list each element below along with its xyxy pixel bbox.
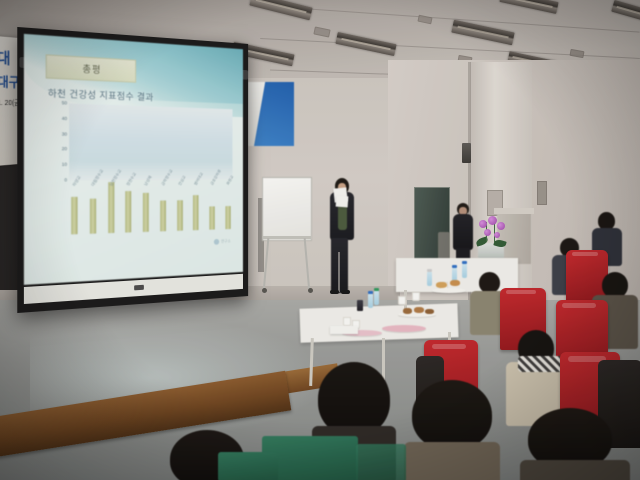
chart-bar — [126, 192, 132, 233]
orchid-bloom — [497, 222, 505, 230]
audience-member-foreground — [520, 408, 630, 480]
presenter-leg-gap — [338, 252, 340, 292]
attendee-coat — [453, 214, 473, 250]
orchid-bloom — [484, 229, 491, 236]
beverage-can[interactable] — [357, 300, 363, 311]
orchid-bloom — [488, 216, 497, 225]
chart-bar — [160, 201, 166, 232]
chart-bar — [71, 196, 77, 234]
presentation-slide: 총평 하천 건강성 지표점수 결과 01020304050 하양교대림정수교남천… — [24, 34, 243, 285]
flip-chart-whiteboard — [262, 177, 312, 241]
snack-item — [436, 282, 447, 288]
slide-logo: 연구소 — [214, 238, 231, 244]
slide-badge-label: 총평 — [82, 62, 101, 76]
chart-y-tick: 10 — [41, 162, 67, 167]
chart-x-tick-label: 안심교 — [177, 179, 185, 187]
whiteboard-wheel — [308, 288, 313, 293]
seat-highlight — [562, 303, 596, 308]
slide-section-badge: 총평 — [46, 54, 136, 83]
whiteboard-wheel — [262, 288, 267, 293]
bar-chart: 01020304050 하양교대림정수교남천정수교정천수교남성제금락정수교안심교… — [41, 100, 236, 235]
seat-highlight — [432, 344, 466, 349]
chart-bar — [143, 193, 149, 232]
presenter-shoe — [330, 290, 339, 294]
screen-pull-handle[interactable] — [134, 285, 144, 291]
scarf — [518, 356, 564, 372]
chart-bar — [193, 195, 198, 230]
chart-x-tick-label: 하양교 — [71, 179, 80, 188]
chart-x-tick-label: 대림정수교 — [90, 179, 98, 187]
seat-highlight — [506, 290, 536, 294]
wall-mounted-box — [537, 181, 547, 205]
standing-attendee — [452, 203, 474, 265]
logo-dot-icon — [214, 239, 219, 245]
snack-item — [403, 308, 412, 314]
seat-green[interactable] — [218, 452, 278, 480]
chart-y-tick: 40 — [41, 115, 67, 121]
chart-x-tick-label: 남성제 — [143, 179, 151, 187]
chart-x-tick-label: 화원교 — [225, 178, 232, 186]
chart-x-tick-label: 정천수교 — [126, 179, 134, 187]
water-bottle[interactable] — [374, 291, 379, 305]
chart-y-tick: 50 — [41, 99, 67, 105]
seat-green[interactable] — [356, 444, 406, 480]
snack-item — [425, 309, 434, 314]
projection-screen: 총평 하천 건강성 지표점수 결과 01020304050 하양교대림정수교남천… — [17, 27, 248, 313]
chart-bar — [209, 207, 214, 230]
presenter-shoe — [341, 290, 350, 294]
chart-bars — [71, 106, 230, 235]
snack-item — [450, 280, 460, 286]
chart-y-tick: 20 — [41, 146, 67, 152]
water-bottle[interactable] — [462, 264, 467, 278]
orchid-bloom — [494, 232, 500, 238]
screen-surface: 총평 하천 건강성 지표점수 결과 01020304050 하양교대림정수교남천… — [24, 34, 243, 285]
water-bottle[interactable] — [368, 294, 373, 308]
slide-logo-text: 연구소 — [221, 238, 231, 244]
banner-blue-wedge — [254, 82, 294, 146]
document-on-table[interactable] — [330, 326, 358, 334]
refreshment-table — [299, 303, 458, 342]
chart-x-tick-label: 금호강하류 — [209, 179, 216, 187]
chart-x-tick-label: 범어대교 — [193, 179, 201, 187]
pink-napkin — [382, 325, 426, 332]
paper-cup[interactable] — [412, 292, 420, 301]
paper-cup[interactable] — [398, 296, 406, 305]
presenter-papers — [336, 196, 349, 208]
water-bottle[interactable] — [427, 272, 432, 286]
wall-speaker-icon — [462, 143, 471, 163]
snack-item — [414, 307, 424, 313]
orchid-bloom — [479, 220, 487, 228]
left-banner-line1: 대 — [0, 46, 9, 68]
chart-bar — [225, 206, 230, 229]
chart-x-tick-label: 금락정수교 — [160, 179, 168, 187]
podium-top — [494, 208, 534, 214]
chart-bar — [177, 200, 183, 230]
chart-y-tick: 0 — [41, 177, 67, 182]
chart-bar — [90, 199, 96, 234]
audience-member-foreground — [404, 380, 500, 480]
screenshot-root: 대 대구 · 1. 20(금) 1 표회 회 대학교 환경공학과 총평 하천 건… — [0, 0, 640, 480]
snack-plate — [432, 288, 466, 293]
seat-highlight — [572, 252, 598, 256]
paper-cup[interactable] — [343, 317, 351, 326]
chart-y-tick: 30 — [41, 131, 67, 137]
